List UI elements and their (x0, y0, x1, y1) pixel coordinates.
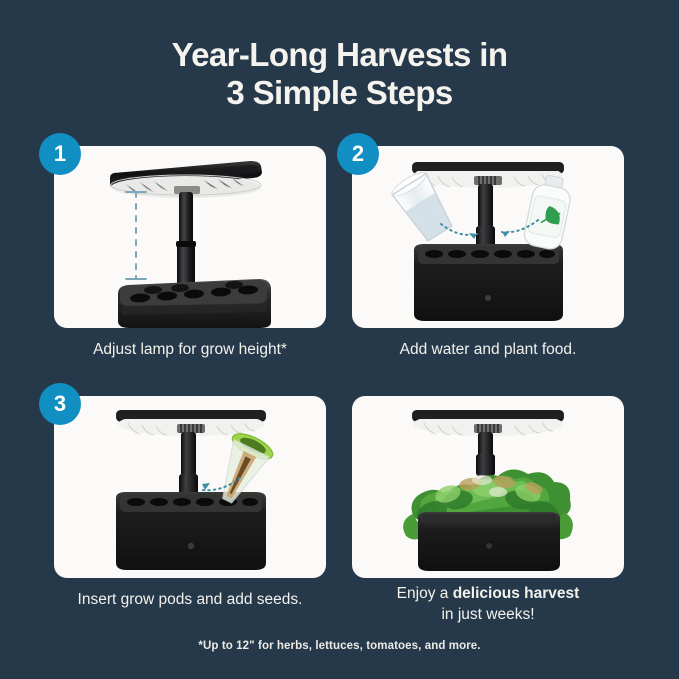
step-badge-3: 3 (39, 383, 81, 425)
step-3-illustration (54, 396, 326, 578)
lamp-hub (474, 176, 502, 185)
step-card-4 (352, 396, 624, 578)
power-button-icon (485, 295, 491, 301)
step-caption-3: Insert grow pods and add seeds. (40, 589, 340, 610)
title-line-2: 3 Simple Steps (0, 74, 679, 112)
lamp-hub (474, 424, 502, 433)
lamp-pole-upper (478, 184, 493, 228)
arrow-head-right (502, 231, 510, 237)
lamp-height-adjust-graphic (54, 146, 326, 328)
footnote: *Up to 12" for herbs, lettuces, tomatoes… (0, 640, 679, 652)
full-harvest-graphic (352, 396, 624, 578)
step-card-3 (54, 396, 326, 578)
title-line-1: Year-Long Harvests in (172, 36, 508, 73)
step-caption-1: Adjust lamp for grow height* (40, 339, 340, 360)
arrow-head-left (469, 233, 477, 239)
caption-4-bold: delicious harvest (453, 585, 580, 602)
step-card-1 (54, 146, 326, 328)
lamp-pole-upper (181, 432, 196, 476)
lamp-pole-lower (476, 454, 495, 476)
step-4-illustration (352, 396, 624, 578)
caption-4-suffix: in just weeks! (441, 606, 534, 623)
grow-pod-insert-graphic (54, 396, 326, 578)
step-2-illustration (352, 146, 624, 328)
garden-base (418, 512, 560, 571)
lamp-pole-upper (179, 192, 193, 246)
step-card-2 (352, 146, 624, 328)
step-badge-1: 1 (39, 133, 81, 175)
arrow-head (202, 483, 210, 490)
caption-4-prefix: Enjoy a (397, 585, 453, 602)
height-measure-arrow (126, 192, 146, 279)
garden-base (116, 492, 266, 570)
step-badge-2: 2 (337, 133, 379, 175)
infographic-page: Year-Long Harvests in 3 Simple Steps (0, 0, 679, 679)
page-title: Year-Long Harvests in 3 Simple Steps (0, 36, 679, 112)
water-and-plant-food-graphic (352, 146, 624, 328)
power-button-icon (486, 543, 492, 549)
lamp-hub (177, 424, 205, 433)
garden-base (118, 279, 271, 328)
pole-joint (176, 241, 196, 247)
step-1-illustration (54, 146, 326, 328)
power-button-icon (188, 543, 194, 549)
step-caption-4: Enjoy a delicious harvest in just weeks! (338, 583, 638, 625)
garden-base (414, 244, 563, 321)
step-caption-2: Add water and plant food. (338, 339, 638, 360)
